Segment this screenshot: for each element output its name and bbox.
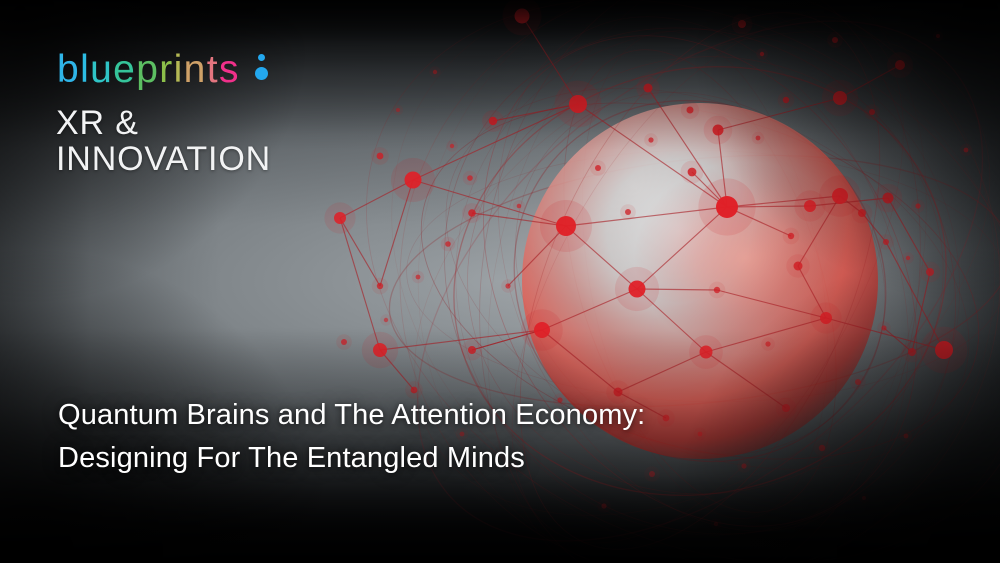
slide-title-line-2: Designing For The Entangled Minds [58, 444, 525, 473]
logo-letter-s: s [219, 48, 240, 91]
logo-letter-e: e [113, 48, 136, 91]
logo-letter-b: b [57, 48, 80, 91]
logo-letter-i: i [174, 48, 184, 91]
logo-letter-u: u [90, 48, 113, 91]
presentation-slide: blueprints XR & INNOVATION Quantum Brain… [0, 0, 1000, 563]
brand-line-2: INNOVATION [56, 142, 271, 176]
logo-letter-l: l [80, 48, 90, 91]
brand-logo[interactable]: blueprints [57, 50, 271, 89]
logo-wordmark: blueprints [57, 50, 271, 89]
logo-letter-r: r [159, 48, 173, 91]
logo-letter-t: t [207, 48, 219, 91]
brand-line-1: XR & [56, 106, 139, 140]
slide-title-line-1: Quantum Brains and The Attention Economy… [58, 401, 645, 430]
logo-letter-p: p [136, 48, 159, 91]
logo-letter-n: n [184, 48, 207, 91]
logo-colon-icon [254, 52, 271, 82]
